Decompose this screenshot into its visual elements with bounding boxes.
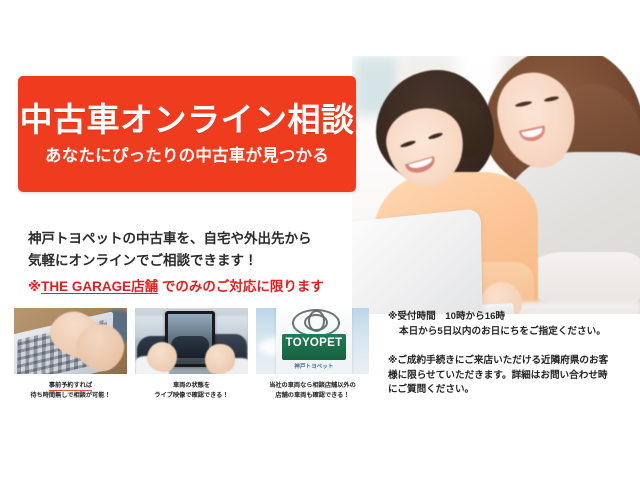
garage-restriction-note: ※THE GARAGE店舗 でのみのご対応に限ります [28,276,348,298]
feature-caption-live-video: 車両の状態を ライブ映像で確認できる！ [135,381,248,400]
lead-line-1: 神戸トヨペットの中古車を、自宅や外出先から [28,228,348,250]
tablet-live-video-photo [135,308,248,374]
note-contract-line-3: にご質問ください。 [388,383,632,398]
feature-caption-other-stores: 当社の車両なら相談店舗以外の 店舗の車両も確認できる！ [256,381,369,400]
note-underlined-store: THE GARAGE店舗 [41,279,158,294]
laptop-typing-photo [14,308,127,374]
feature-caption-line-1: 事前予約すれば [49,382,92,391]
note-contract-line-1: ※ご成約手続きにご来店いただける近隣府県のお客 [388,354,632,369]
promo-page: 中古車オンライン相談 あなたにぴったりの中古車が見つかる 神戸トヨペットの中古車… [0,0,640,480]
toyopet-wordmark: TOYOPET [282,337,346,349]
mother-arm [524,252,640,304]
note-rest-text: でのみのご対応に限ります [158,279,324,294]
toyota-logo-cross-icon [308,310,325,332]
lead-paragraph: 神戸トヨペットの中古車を、自宅や外出先から 気軽にオンラインでご相談できます！ … [28,228,348,298]
feature-caption-line-1: 車両の状態を [173,382,210,389]
feature-caption-line-2: 店舗の車両も確認できる！ [275,392,349,399]
banner-subheadline: あなたにぴったりの中古車が見つかる [45,147,329,165]
feature-item-other-stores: TOYOPET 神戸トヨペット 当社の車両なら相談店舗以外の 店舗の車両も確認で… [256,308,369,400]
headline-banner: 中古車オンライン相談 あなたにぴったりの中古車が見つかる [18,76,356,192]
note-business-hours: ※受付時間 10時から16時 本日から5日以内のお日にちをご指定ください。 [388,310,632,340]
kobe-toyopet-subtext: 神戸トヨペット [282,362,346,370]
note-contract-line-2: 様に限らせていただきます。詳細はお問い合わせ時 [388,369,632,384]
tablet-hand-left [147,342,177,372]
note-hours-line-1: ※受付時間 10時から16時 [388,310,632,325]
feature-caption-line-2: ライブ映像で確認できる！ [154,392,228,399]
feature-item-reservation: 事前予約すれば 待ち時間無しで相談が可能！ [14,308,127,400]
feature-caption-line-1: 当社の車両なら相談店舗以外の [269,382,356,389]
hero-photo-mother-and-daughter [352,56,640,314]
note-contract-area: ※ご成約手続きにご来店いただける近隣府県のお客 様に限らせていただきます。詳細は… [388,354,632,399]
hero-laptop-screen [352,208,483,314]
banner-headline: 中古車オンライン相談 [20,103,355,138]
feature-caption-reservation: 事前予約すれば 待ち時間無しで相談が可能！ [14,381,127,400]
note-prefix-mark: ※ [28,279,41,294]
note-hours-line-2: 本日から5日以内のお日にちをご指定ください。 [388,325,632,340]
feature-thumbnail-row: 事前予約すれば 待ち時間無しで相談が可能！ 車両の状態を ライブ映像で確認で [14,308,370,400]
lead-line-2: 気軽にオンラインでご相談できます！ [28,250,348,272]
feature-item-live-video: 車両の状態を ライブ映像で確認できる！ [135,308,248,400]
feature-caption-line-2: 待ち時間無しで相談が可能！ [30,392,110,399]
notes-column: ※受付時間 10時から16時 本日から5日以内のお日にちをご指定ください。 ※ご… [388,310,632,412]
tablet-hand-right [205,344,235,374]
toyopet-sign-photo: TOYOPET 神戸トヨペット [256,308,369,374]
